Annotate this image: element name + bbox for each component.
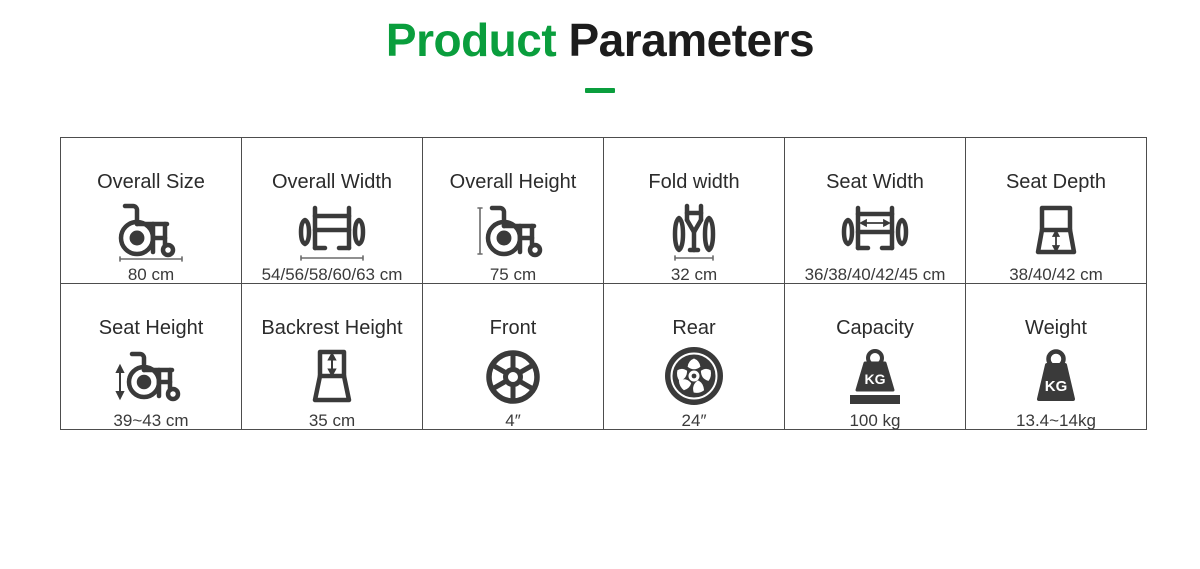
table-cell-backrest-height: Backrest Height — [242, 284, 423, 430]
wheelchair-folded-icon — [649, 198, 739, 264]
cell-label: Seat Height — [99, 318, 204, 338]
table-cell-rear-wheel: Rear — [604, 284, 785, 430]
front-caster-wheel-icon — [478, 344, 548, 410]
rear-wheel-icon — [659, 344, 729, 410]
table-cell-overall-height: Overall Height — [423, 138, 604, 284]
seat-width-icon — [830, 198, 920, 264]
svg-text:KG: KG — [865, 371, 886, 387]
table-cell-capacity: Capacity KG 100 kg — [785, 284, 966, 430]
cell-value: 80 cm — [128, 266, 174, 283]
table-cell-seat-depth: Seat Depth — [966, 138, 1147, 284]
table-cell-front-wheel: Front — [423, 284, 604, 430]
cell-label: Backrest Height — [261, 318, 402, 338]
cell-value: 38/40/42 cm — [1009, 266, 1103, 283]
table-cell-seat-height: Seat Height — [61, 284, 242, 430]
cell-value: 75 cm — [490, 266, 536, 283]
cell-label: Weight — [1025, 318, 1087, 338]
wheelchair-side-height-icon — [468, 198, 558, 264]
cell-label: Front — [490, 318, 537, 338]
cell-value: 4″ — [505, 412, 520, 429]
kg-weight-icon: KG — [1018, 344, 1094, 410]
title-divider — [585, 88, 615, 93]
table-cell-seat-width: Seat Width — [785, 138, 966, 284]
cell-value: 13.4~14kg — [1016, 412, 1096, 429]
cell-value: 36/38/40/42/45 cm — [805, 266, 946, 283]
table-cell-fold-width: Fold width — [604, 138, 785, 284]
page-title: Product Parameters — [0, 14, 1200, 67]
table-row: Overall Size — [61, 138, 1147, 284]
cell-value: 35 cm — [309, 412, 355, 429]
cell-label: Overall Height — [450, 172, 577, 192]
cell-label: Seat Depth — [1006, 172, 1106, 192]
table-row: Seat Height — [61, 284, 1147, 430]
specifications-table: Overall Size — [60, 137, 1147, 430]
seat-height-icon — [106, 344, 196, 410]
cell-value: 100 kg — [849, 412, 900, 429]
page-header: Product Parameters — [0, 0, 1200, 93]
cell-label: Rear — [672, 318, 715, 338]
cell-label: Overall Size — [97, 172, 205, 192]
kg-weight-on-platform-icon: KG — [837, 344, 913, 410]
seat-depth-icon — [1011, 198, 1101, 264]
product-parameters-page: Product Parameters Overall Size — [0, 0, 1200, 569]
page-title-green-word: Product — [386, 14, 556, 66]
cell-label: Overall Width — [272, 172, 392, 192]
cell-label: Seat Width — [826, 172, 924, 192]
table-cell-overall-width: Overall Width — [242, 138, 423, 284]
table-cell-weight: Weight KG 13.4~14kg — [966, 284, 1147, 430]
table-cell-overall-size: Overall Size — [61, 138, 242, 284]
cell-value: 24″ — [682, 412, 707, 429]
wheelchair-front-width-icon — [287, 198, 377, 264]
svg-text:KG: KG — [1045, 378, 1068, 395]
cell-label: Capacity — [836, 318, 914, 338]
cell-value: 32 cm — [671, 266, 717, 283]
page-title-dark-word: Parameters — [556, 14, 814, 66]
wheelchair-side-width-icon — [106, 198, 196, 264]
cell-label: Fold width — [648, 172, 739, 192]
backrest-height-icon — [287, 344, 377, 410]
cell-value: 54/56/58/60/63 cm — [262, 266, 403, 283]
cell-value: 39~43 cm — [113, 412, 188, 429]
